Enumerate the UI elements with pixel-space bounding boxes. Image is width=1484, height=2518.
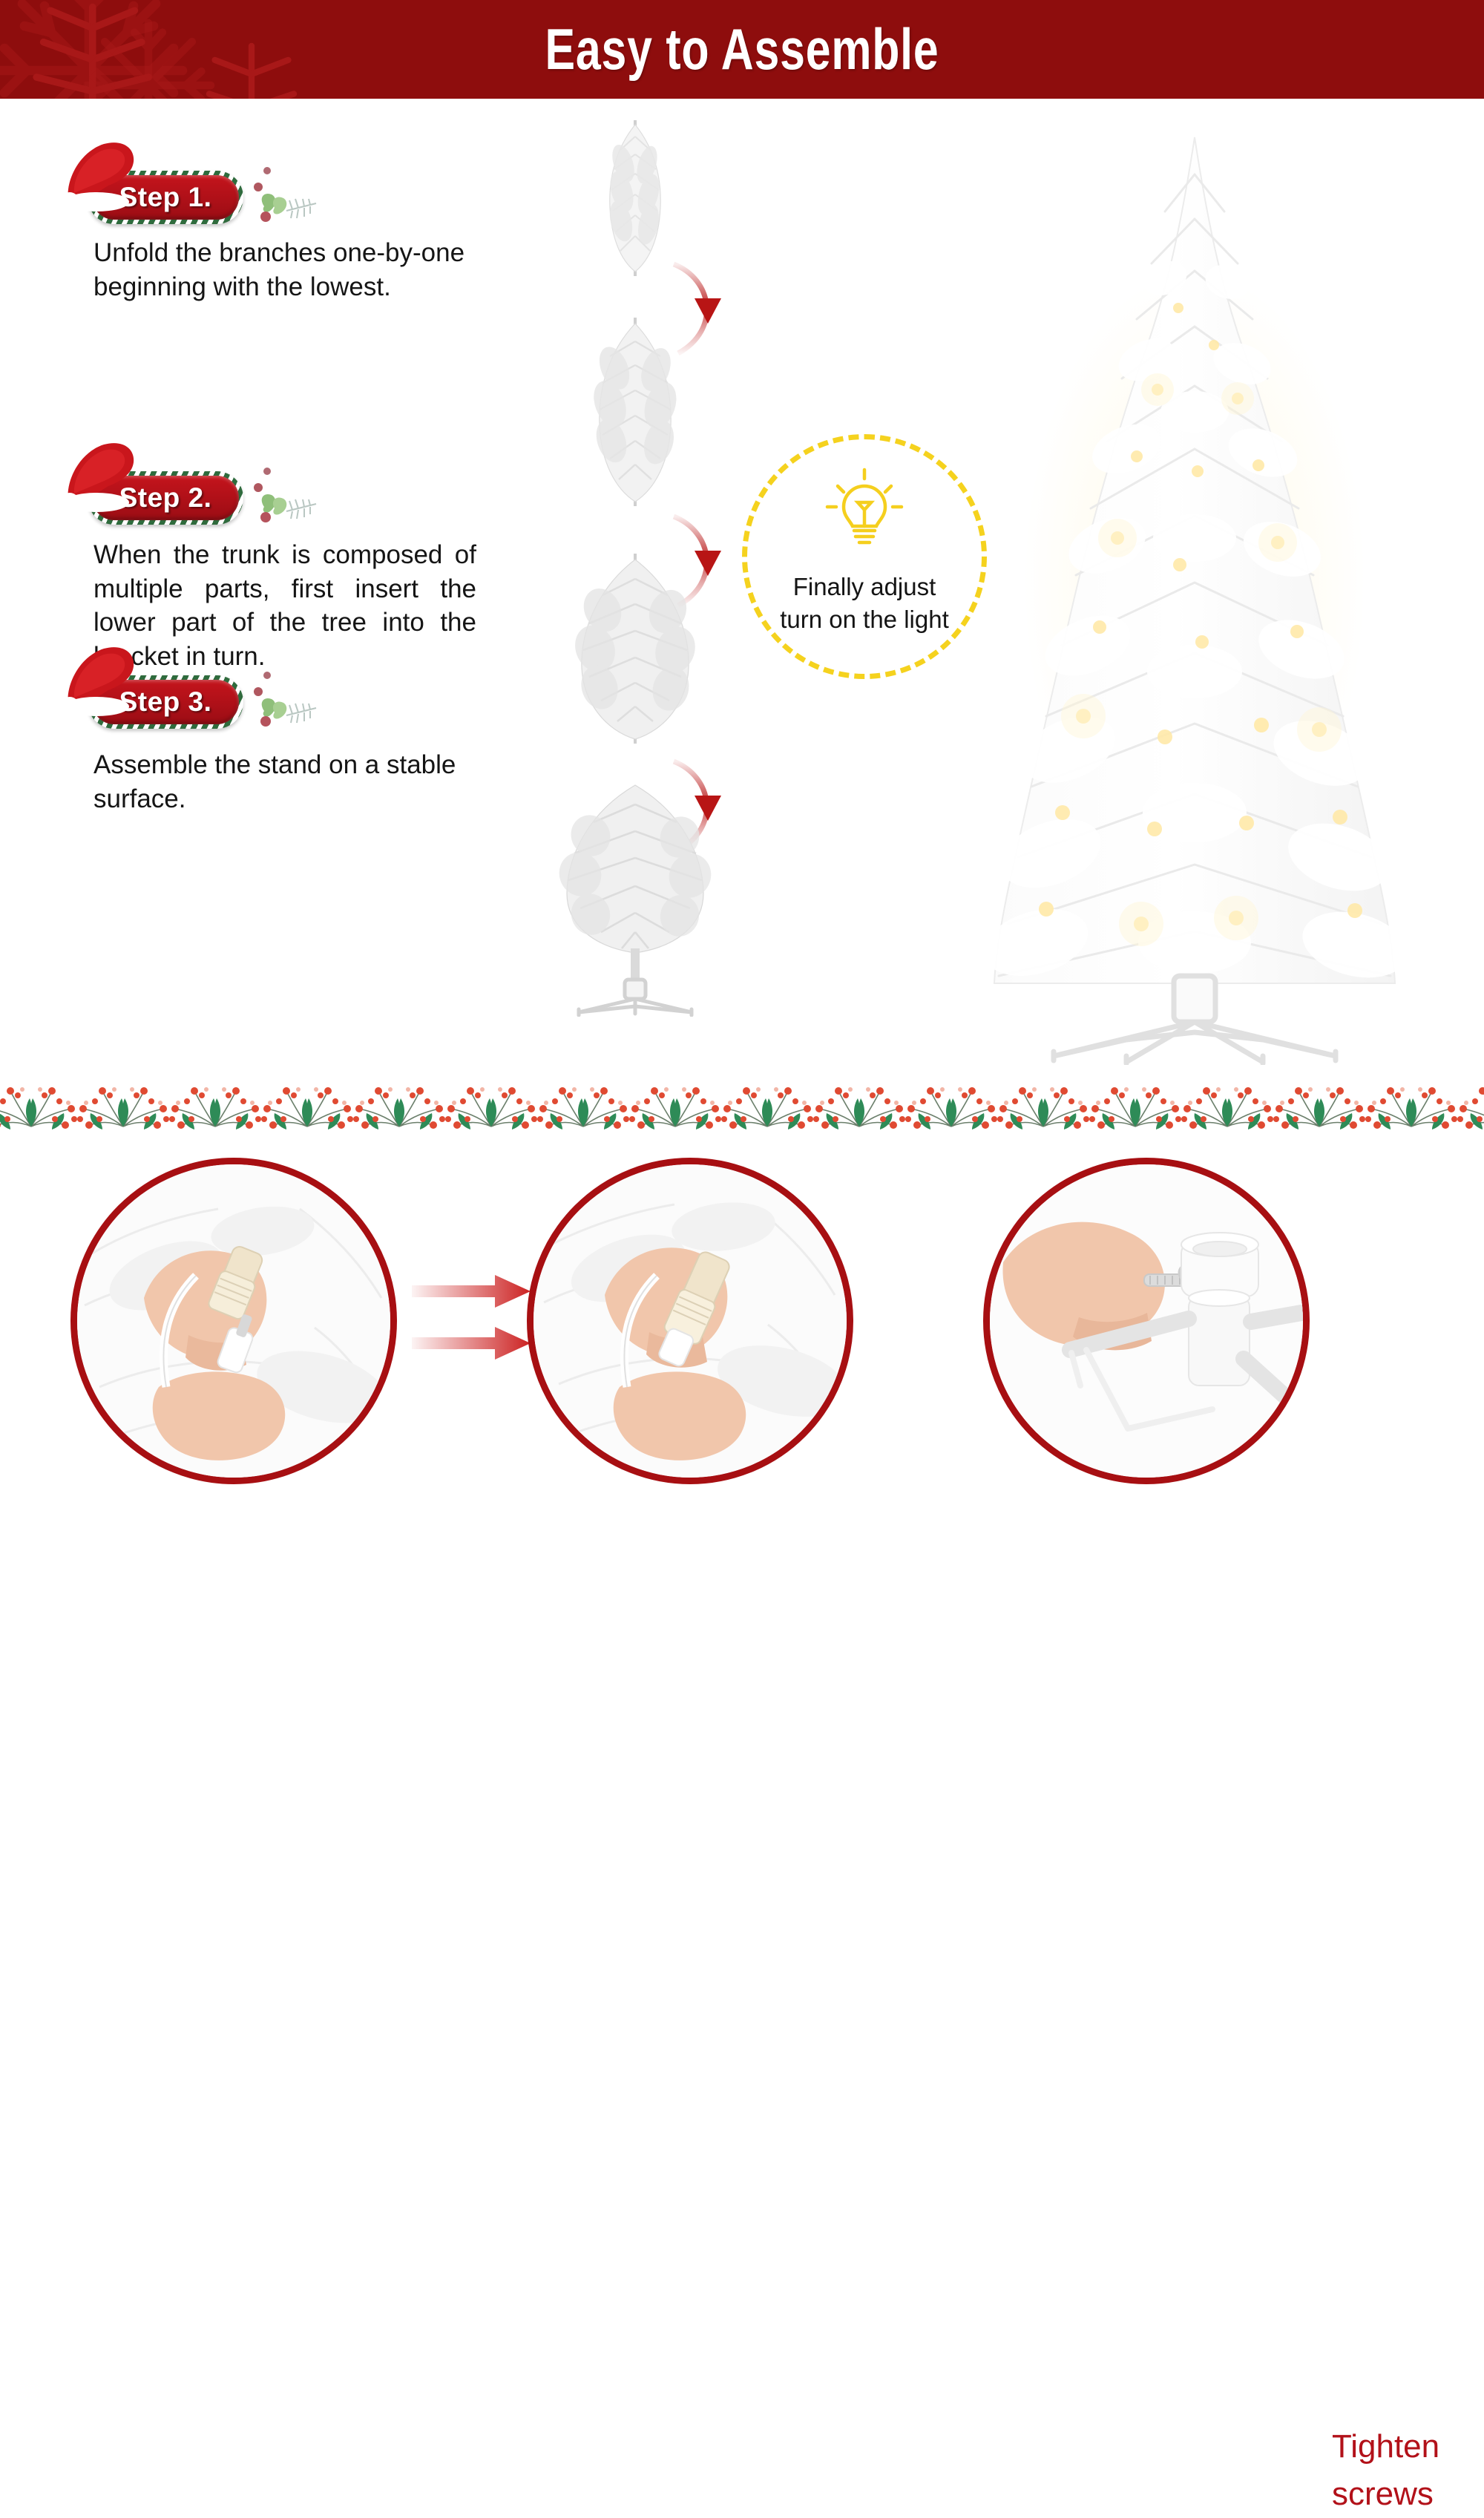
tighten-screws-label: Tighten screws bbox=[1332, 2423, 1439, 2518]
step-badge-row-2: Step 2. bbox=[0, 433, 519, 522]
main-tree-stand bbox=[1054, 976, 1336, 1063]
santa-hat-icon bbox=[61, 437, 142, 514]
photo-2-illustration bbox=[533, 1164, 853, 1484]
page-header: Easy to Assemble bbox=[0, 0, 1484, 99]
bottom-photo-row: Tighten screws bbox=[0, 1158, 1484, 1484]
lightbulb-icon bbox=[820, 464, 909, 560]
holly-sprig-icon bbox=[245, 669, 326, 736]
holly-sprig-icon bbox=[245, 465, 326, 532]
tree-stand bbox=[579, 980, 692, 1015]
step-block-1: Step 1. Unfold the branches one-by-one b… bbox=[0, 132, 519, 221]
tip-line-1: Finally adjust bbox=[780, 571, 949, 603]
tip-line-2: turn on the light bbox=[780, 603, 949, 636]
partially-unfolded-tree-stage-2 bbox=[490, 312, 787, 512]
holly-sprig-icon bbox=[245, 165, 326, 232]
tree-on-stand-stage-4 bbox=[490, 779, 787, 1017]
photo-connect-plug-after bbox=[527, 1158, 853, 1484]
step-text-1: Unfold the branches one-by-one beginning… bbox=[93, 236, 476, 304]
step-block-3: Step 3. Assemble the stand on a stable s… bbox=[0, 637, 519, 726]
page-title: Easy to Assemble bbox=[163, 0, 1321, 99]
step-badge-row-3: Step 3. bbox=[0, 637, 519, 726]
connect-arrows bbox=[412, 1269, 545, 1373]
photo-1-illustration bbox=[77, 1164, 397, 1484]
santa-hat-icon bbox=[61, 137, 142, 214]
step-text-3: Assemble the stand on a stable surface. bbox=[93, 748, 476, 816]
step-badge-row-1: Step 1. bbox=[0, 132, 519, 221]
step-block-2: Step 2. When the trunk is composed of mu… bbox=[0, 433, 519, 522]
photo-connect-plug-before bbox=[70, 1158, 397, 1484]
photo-3-illustration bbox=[990, 1164, 1310, 1484]
tighten-line-2: screws bbox=[1332, 2471, 1439, 2518]
right-arrow-icon bbox=[412, 1275, 531, 1360]
tighten-line-1: Tighten bbox=[1332, 2423, 1439, 2471]
holly-divider bbox=[0, 1078, 1484, 1135]
santa-hat-icon bbox=[61, 641, 142, 718]
unfolded-tree-stage-3 bbox=[490, 549, 787, 750]
photo-tighten-stand-screw bbox=[983, 1158, 1310, 1484]
main-christmas-tree bbox=[942, 122, 1447, 1065]
